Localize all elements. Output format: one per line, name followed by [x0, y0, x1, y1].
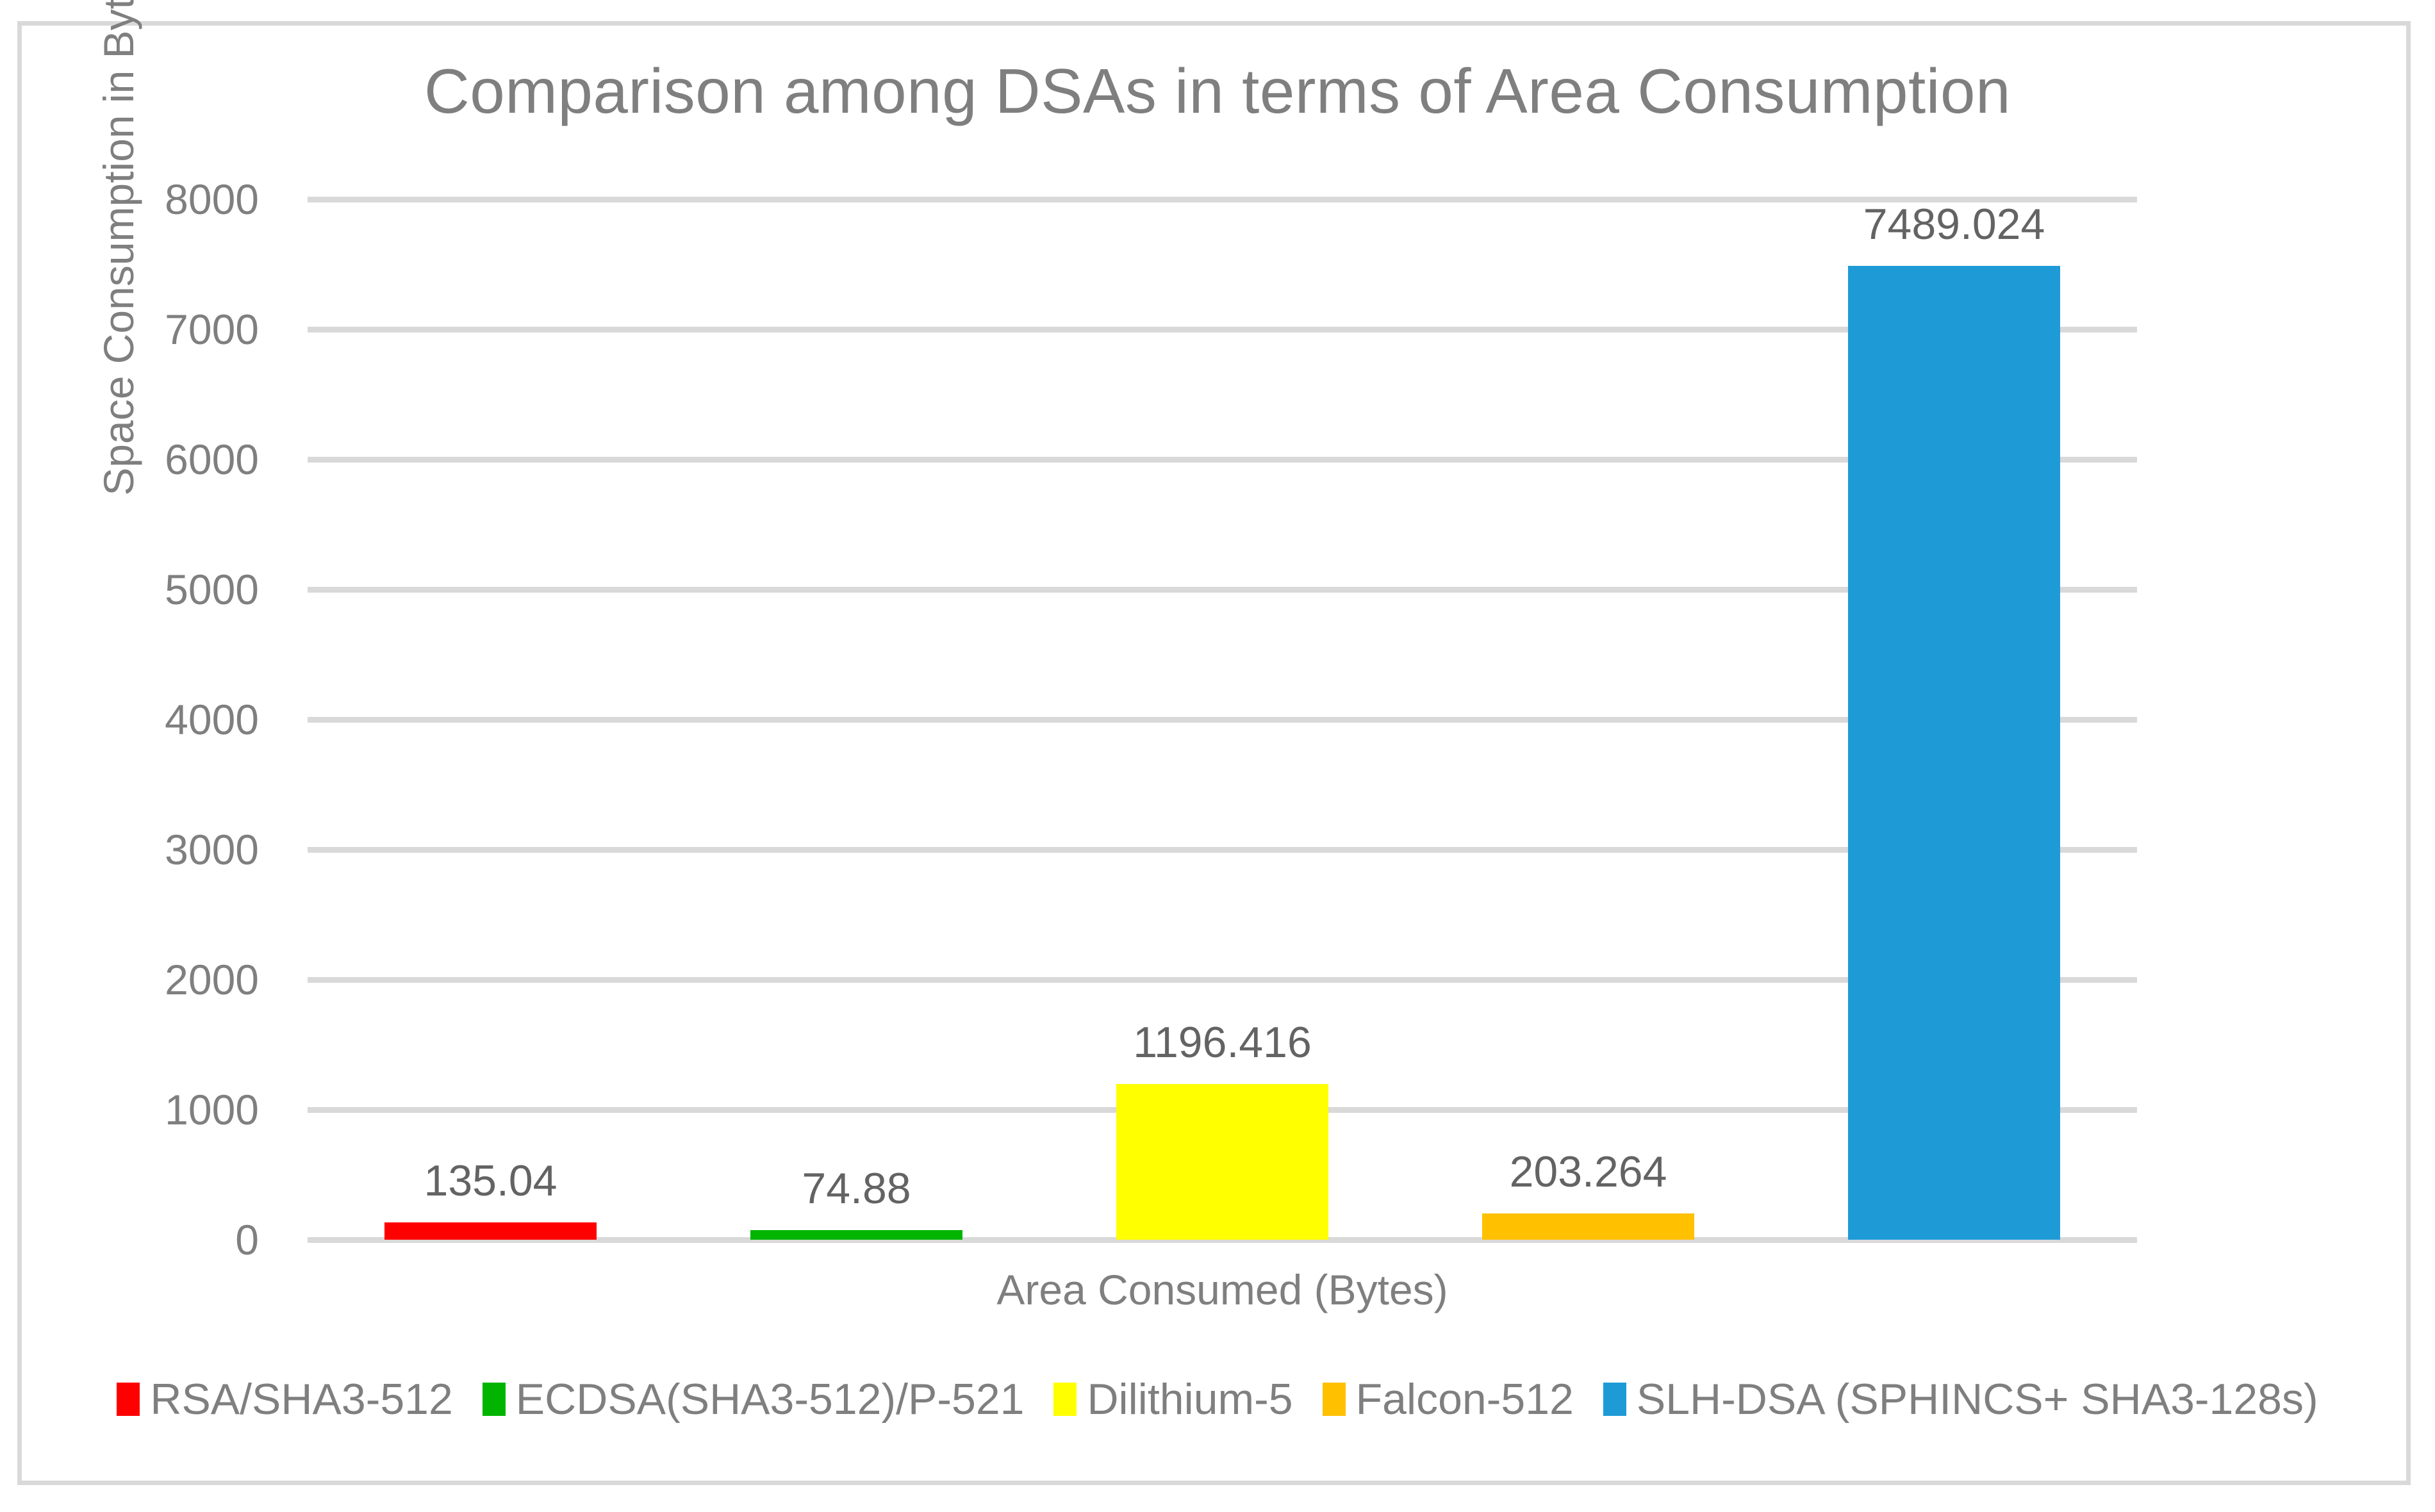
y-axis-tick-labels: 800070006000500040003000200010000: [0, 199, 282, 1240]
bar[interactable]: [1482, 1213, 1694, 1240]
bar[interactable]: [1116, 1084, 1328, 1240]
y-axis-tick-label: 0: [235, 1215, 259, 1264]
y-axis-tick-label: 5000: [165, 565, 259, 614]
bar-value-label: 1196.416: [1133, 1017, 1312, 1067]
y-axis-tick-label: 2000: [165, 955, 259, 1004]
legend-swatch-icon: [117, 1383, 140, 1416]
y-axis-tick-label: 6000: [165, 435, 259, 484]
bar-value-label: 74.88: [802, 1163, 911, 1213]
legend-swatch-icon: [1603, 1383, 1626, 1416]
y-axis-tick-label: 4000: [165, 695, 259, 744]
bar-value-label: 203.264: [1510, 1147, 1667, 1197]
legend-label: Falcon-512: [1356, 1377, 1574, 1421]
bar[interactable]: [750, 1230, 962, 1240]
bar[interactable]: [1848, 266, 2060, 1240]
y-axis-tick-label: 1000: [165, 1085, 259, 1134]
legend-item[interactable]: Dilithium-5: [1053, 1377, 1292, 1421]
chart-title: Comparison among DSAs in terms of Area C…: [0, 55, 2435, 127]
legend-label: RSA/SHA3-512: [150, 1377, 452, 1421]
legend-item[interactable]: ECDSA(SHA3-512)/P-521: [483, 1377, 1025, 1421]
legend-item[interactable]: Falcon-512: [1323, 1377, 1574, 1421]
plot-area: 135.0474.881196.416203.2647489.024: [308, 199, 2137, 1240]
legend-item[interactable]: SLH-DSA (SPHINCS+ SHA3-128s): [1603, 1377, 2318, 1421]
y-axis-tick-label: 8000: [165, 175, 259, 224]
legend-item[interactable]: RSA/SHA3-512: [117, 1377, 452, 1421]
legend-label: ECDSA(SHA3-512)/P-521: [516, 1377, 1025, 1421]
bar-value-label: 135.04: [424, 1156, 557, 1206]
bar[interactable]: [384, 1222, 597, 1240]
y-axis-tick-label: 7000: [165, 305, 259, 354]
legend-label: Dilithium-5: [1087, 1377, 1292, 1421]
chart-legend: RSA/SHA3-512ECDSA(SHA3-512)/P-521Dilithi…: [0, 1377, 2435, 1421]
legend-swatch-icon: [483, 1383, 506, 1416]
legend-swatch-icon: [1053, 1383, 1077, 1416]
legend-label: SLH-DSA (SPHINCS+ SHA3-128s): [1637, 1377, 2318, 1421]
bar-value-label: 7489.024: [1863, 199, 2045, 249]
legend-swatch-icon: [1323, 1383, 1346, 1416]
chart-canvas: Comparison among DSAs in terms of Area C…: [0, 0, 2435, 1512]
x-axis-title: Area Consumed (Bytes): [308, 1265, 2137, 1314]
y-axis-tick-label: 3000: [165, 825, 259, 874]
